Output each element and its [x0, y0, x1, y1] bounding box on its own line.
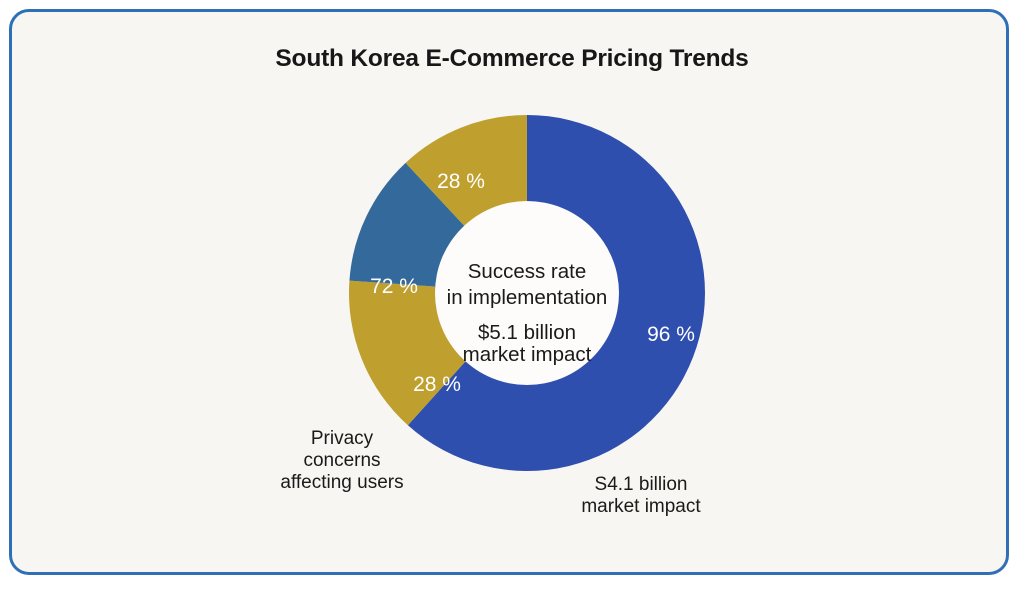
outer-label-right-line2: market impact: [581, 496, 701, 517]
slice-label: 96 %: [647, 323, 695, 346]
donut-chart-svg: 96 %28 %72 %28 % Success rate in impleme…: [12, 12, 1012, 578]
center-text-line1: Success rate: [468, 260, 587, 283]
outer-label-left-line1: Privacy: [311, 428, 374, 449]
center-text-line2: in implementation: [447, 286, 608, 309]
chart-card: South Korea E-Commerce Pricing Trends 96…: [9, 9, 1009, 575]
outer-label-left-line2: concerns: [303, 450, 380, 471]
outer-label-left-line3: affecting users: [280, 472, 403, 493]
outer-label-right-line1: S4.1 billion: [595, 474, 688, 495]
slice-label: 28 %: [413, 373, 461, 396]
donut-chart: 96 %28 %72 %28 % Success rate in impleme…: [12, 12, 1012, 578]
center-text-line4: market impact: [463, 343, 592, 366]
center-text-line3: $5.1 billion: [478, 321, 576, 344]
slice-label: 28 %: [437, 170, 485, 193]
slice-label: 72 %: [370, 275, 418, 298]
